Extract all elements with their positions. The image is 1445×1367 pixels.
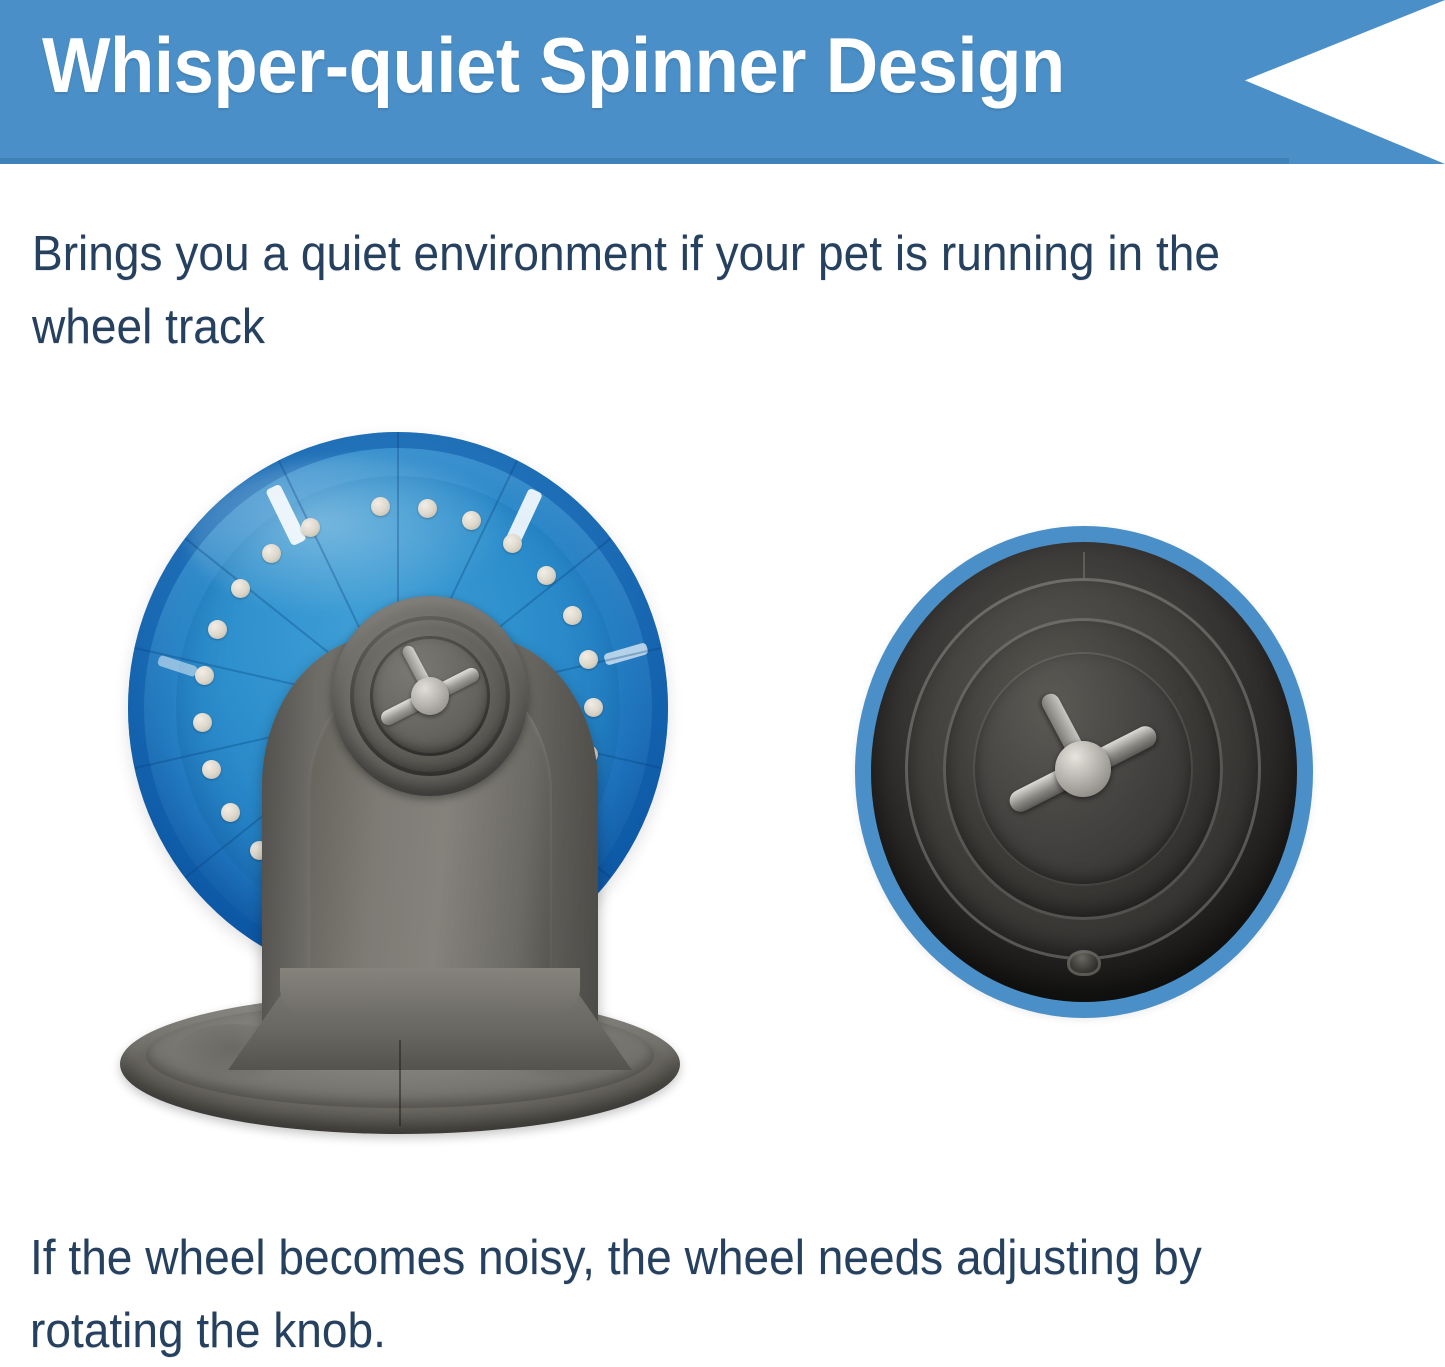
header-banner: Whisper-quiet Spinner Design [0, 0, 1445, 164]
detail-screw-icon [1067, 950, 1101, 976]
wheel-dot [231, 579, 250, 598]
outro-description: If the wheel becomes noisy, the wheel ne… [30, 1222, 1346, 1367]
spinner-hub-inner [370, 636, 490, 756]
spinner-hub-outer [332, 596, 528, 796]
base-seam-line [399, 1040, 401, 1126]
knob-ring-inner [973, 652, 1193, 886]
banner-notch-icon [1245, 0, 1445, 164]
knob-center-cap [411, 677, 449, 715]
intro-description: Brings you a quiet environment if your p… [32, 218, 1343, 363]
page-title: Whisper-quiet Spinner Design [42, 26, 1065, 104]
knob-ring-mid [943, 618, 1223, 920]
detail-callout-circle [855, 526, 1313, 1018]
product-image-main [110, 400, 690, 1140]
detail-knob-center-cap [1055, 741, 1111, 797]
detail-callout-photo [871, 542, 1297, 1002]
spinner-hub-mid [350, 616, 510, 776]
wheel-dot [563, 606, 582, 625]
wheel-dot [208, 620, 227, 639]
banner-underline [0, 158, 1289, 164]
wheel-dot [418, 499, 437, 518]
wheel-dot [301, 518, 320, 537]
wheel-dot [202, 760, 221, 779]
wheel-dot [195, 666, 214, 685]
product-photo-stage [0, 380, 1445, 1160]
stand-foot-lip [280, 968, 580, 1016]
knob-ring-outer [905, 578, 1261, 960]
wheel-dot [503, 534, 522, 553]
